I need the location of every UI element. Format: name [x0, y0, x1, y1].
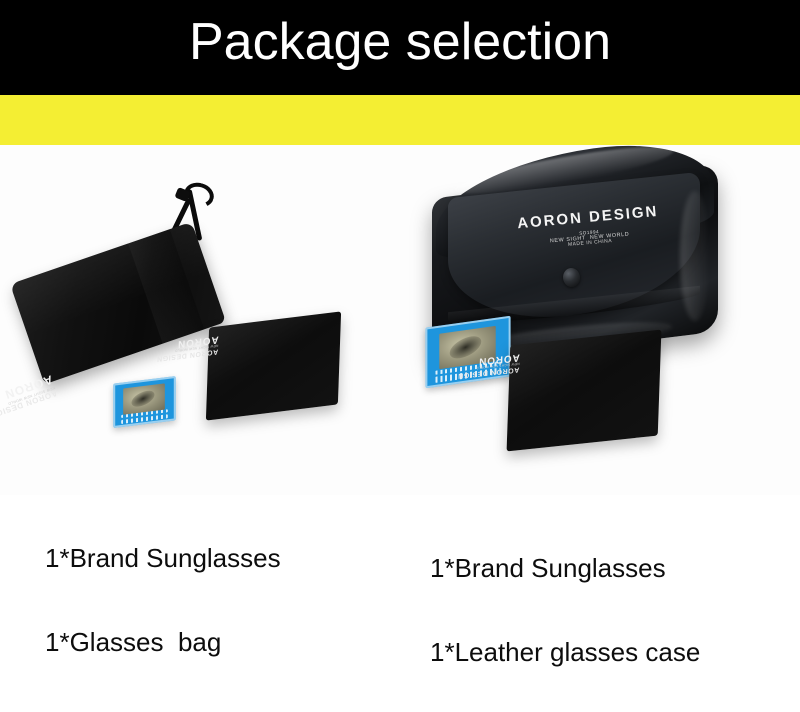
- list-item: 1*Brand Sunglasses: [45, 534, 285, 582]
- list-item: 1*Brand Sunglasses: [430, 544, 700, 592]
- glasses-cloth-image-left: AORON DESIGN NEW SIGHT NEW WORLD AORON: [206, 311, 341, 420]
- package-selection-banner: Package selection Glasses Bag Leather Gl…: [0, 0, 800, 712]
- contents-list-leather-case: 1*Brand Sunglasses 1*Leather glasses cas…: [430, 508, 700, 712]
- glasses-bag-image: AORON DESIGN NEW SIGHT NEW WORLD AORON: [10, 222, 226, 385]
- column-header-band: Glasses Bag Leather Glasses Case: [0, 95, 800, 145]
- cloth-sheen: [206, 311, 341, 420]
- list-item: 1*Leather glasses case: [430, 628, 700, 676]
- case-highlight-right: [680, 191, 710, 321]
- glasses-cloth-image-right: AORON DESIGN NEW SIGHT NEW WORLD AORON: [507, 330, 662, 452]
- bag-brand-print: AORON DESIGN NEW SIGHT NEW WORLD AORON: [0, 373, 58, 420]
- list-item: 1*Glasses cloth: [45, 702, 285, 712]
- page-title: Package selection: [0, 8, 800, 76]
- contents-list-glasses-bag: 1*Brand Sunglasses 1*Glasses bag 1*Glass…: [45, 498, 285, 712]
- list-item: 1*Glasses bag: [45, 618, 285, 666]
- product-photo-stage: AORON DESIGN NEW SIGHT NEW WORLD AORON A…: [0, 145, 800, 495]
- title-bar: Package selection: [0, 0, 800, 95]
- cloth-sheen: [507, 330, 662, 452]
- polarized-test-card-left: [113, 376, 176, 428]
